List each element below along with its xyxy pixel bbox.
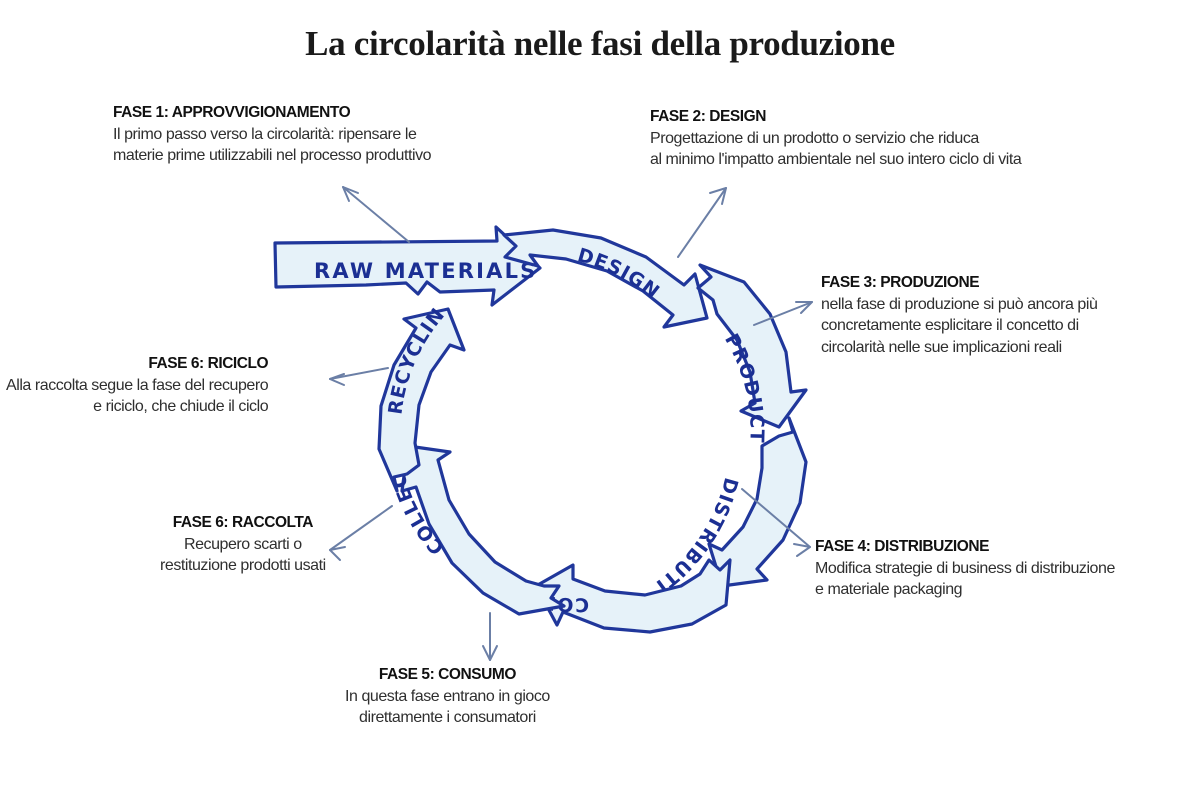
note-fase-1-body: Il primo passo verso la circolarità: rip… [113,124,431,167]
note-fase-3-body: nella fase di produzione si può ancora p… [821,294,1097,358]
cycle-segment-raw-materials[interactable]: RAW MATERIALS [275,227,540,305]
note-fase-2-body: Progettazione di un prodotto o servizio … [650,128,1021,171]
note-fase-4: FASE 4: DISTRIBUZIONE Modifica strategie… [815,538,1115,601]
note-line: Progettazione di un prodotto o servizio … [650,128,1021,149]
note-fase-6-riciclo-body: Alla raccolta segue la fase del recupero… [6,375,268,418]
note-fase-6-riciclo-heading: FASE 6: RICICLO [6,355,268,373]
note-line: Il primo passo verso la circolarità: rip… [113,124,431,145]
note-fase-5: FASE 5: CONSUMO In questa fase entrano i… [345,666,550,729]
note-line: direttamente i consumatori [345,707,550,728]
slide-canvas: La circolarità nelle fasi della produzio… [0,0,1200,800]
note-line: al minimo l'impatto ambientale nel suo i… [650,149,1021,170]
note-fase-2: FASE 2: DESIGN Progettazione di un prodo… [650,108,1021,171]
note-fase-5-heading: FASE 5: CONSUMO [345,666,550,684]
note-fase-6-raccolta: FASE 6: RACCOLTA Recupero scarti o resti… [160,514,326,577]
note-fase-4-body: Modifica strategie di business di distri… [815,558,1115,601]
note-line: circolarità nelle sue implicazioni reali [821,337,1097,358]
note-fase-5-body: In questa fase entrano in gioco direttam… [345,686,550,729]
cycle-label-raw-materials: RAW MATERIALS [314,259,538,283]
cycle-label-distribution: DISTRIBUTION [0,0,742,597]
note-fase-6-raccolta-heading: FASE 6: RACCOLTA [160,514,326,532]
note-line: In questa fase entrano in gioco [345,686,550,707]
leader-arrow-fase-6-raccolta [330,506,392,560]
leader-arrow-fase-1 [343,187,409,242]
leader-arrow-fase-2 [678,188,726,257]
note-fase-1-heading: FASE 1: APPROVVIGIONAMENTO [113,104,431,122]
note-fase-1: FASE 1: APPROVVIGIONAMENTO Il primo pass… [113,104,431,167]
note-line: concretamente esplicitare il concetto di [821,315,1097,336]
note-fase-3: FASE 3: PRODUZIONE nella fase di produzi… [821,274,1097,358]
note-fase-6-riciclo: FASE 6: RICICLO Alla raccolta segue la f… [6,355,268,418]
note-line: Alla raccolta segue la fase del recupero [6,375,268,396]
cycle-segment-consumption[interactable]: CONSUMPTION [0,0,730,632]
note-fase-2-heading: FASE 2: DESIGN [650,108,1021,126]
note-fase-4-heading: FASE 4: DISTRIBUZIONE [815,538,1115,556]
note-line: restituzione prodotti usati [160,555,326,576]
note-line: e materiale packaging [815,579,1115,600]
note-line: Recupero scarti o [160,534,326,555]
note-line: Modifica strategie di business di distri… [815,558,1115,579]
note-line: nella fase di produzione si può ancora p… [821,294,1097,315]
leader-arrow-fase-5 [483,613,497,660]
note-line: e riciclo, che chiude il ciclo [6,396,268,417]
note-line: materie prime utilizzabili nel processo … [113,145,431,166]
leader-arrow-fase-6-riciclo [330,368,388,385]
note-fase-3-heading: FASE 3: PRODUZIONE [821,274,1097,292]
cycle-label-recycling: RECYCLING [0,0,450,416]
note-fase-6-raccolta-body: Recupero scarti o restituzione prodotti … [160,534,326,577]
